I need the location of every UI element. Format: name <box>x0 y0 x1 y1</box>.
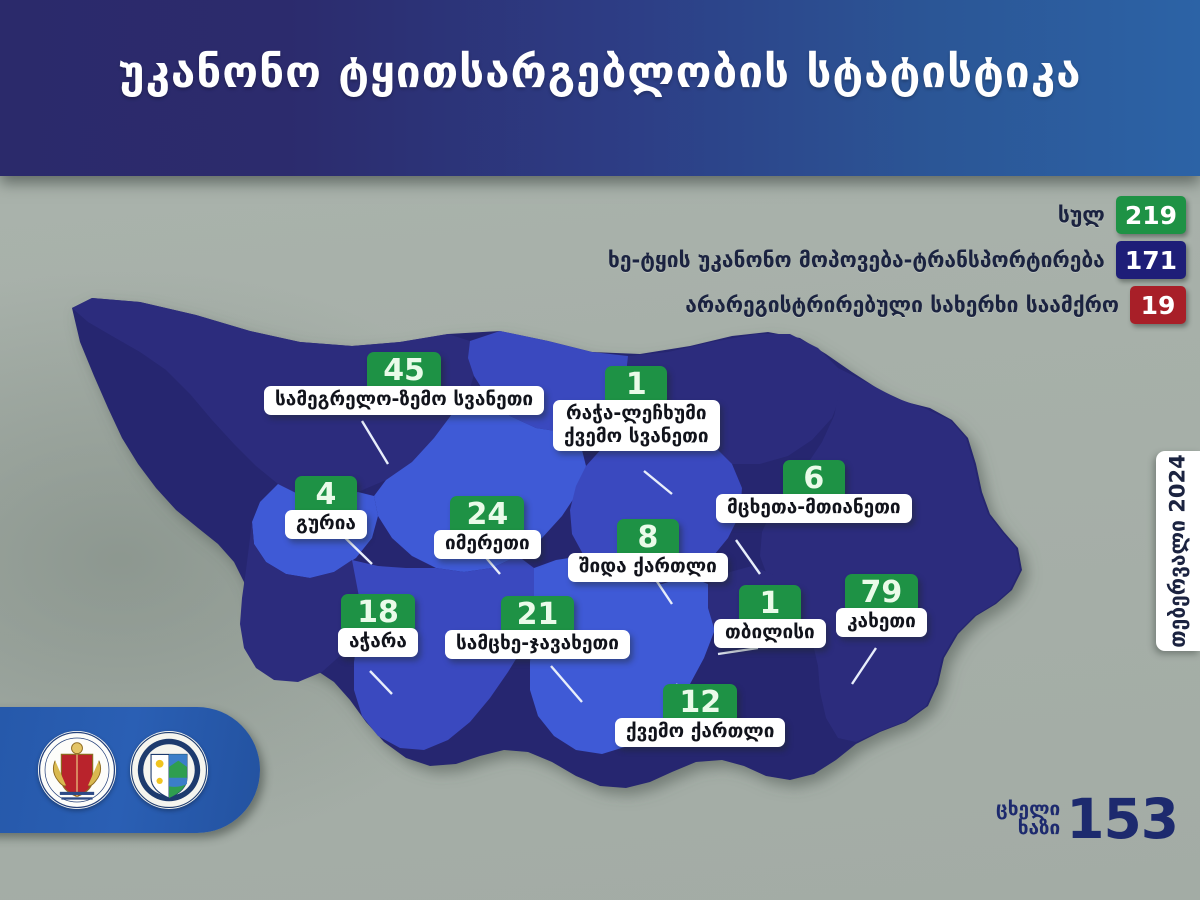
legend-label: ხე-ტყის უკანონო მოპოვება-ტრანსპორტირება <box>608 248 1105 272</box>
marker-label: კახეთი <box>836 608 927 636</box>
marker-label: მცხეთა-მთიანეთი <box>716 494 912 522</box>
date-tab-label: თებერვალი 2024 <box>1166 454 1190 647</box>
map-marker-imereti[interactable]: 24 იმერეთი <box>434 496 541 559</box>
map-marker-guria[interactable]: 4 გურია <box>285 476 367 539</box>
marker-label: გურია <box>285 510 367 538</box>
infographic-stage: უკანონო ტყითსარგებლობის სტატისტიკა სულ 2… <box>0 0 1200 900</box>
date-tab: თებერვალი 2024 <box>1156 451 1200 651</box>
page-title: უკანონო ტყითსარგებლობის სტატისტიკა <box>0 49 1200 97</box>
map-marker-adjara[interactable]: 18 აჭარა <box>338 594 418 657</box>
map-marker-samegrelo-zemo-svaneti[interactable]: 45 სამეგრელო-ზემო სვანეთი <box>264 352 544 415</box>
hotline: ცხელი ხაზი 153 <box>996 795 1178 845</box>
legend-label: სულ <box>1058 203 1105 227</box>
legend: სულ 219 ხე-ტყის უკანონო მოპოვება-ტრანსპო… <box>608 196 1186 324</box>
hotline-label-line2: ხაზი <box>996 819 1060 838</box>
marker-label: სამცხე-ჯავახეთი <box>445 630 630 658</box>
legend-row: არარეგისტრირებული სახერხი საამქრო 19 <box>685 286 1186 324</box>
legend-row: ხე-ტყის უკანონო მოპოვება-ტრანსპორტირება … <box>608 241 1186 279</box>
marker-label: იმერეთი <box>434 530 541 558</box>
environmental-agency-emblem-icon <box>130 731 208 809</box>
marker-label: შიდა ქართლი <box>568 553 728 581</box>
legend-badge-logging: 171 <box>1116 241 1186 279</box>
map-marker-kakheti[interactable]: 79 კახეთი <box>836 574 927 637</box>
hotline-label: ცხელი ხაზი <box>996 800 1060 838</box>
legend-badge-total: 219 <box>1116 196 1186 234</box>
marker-label: სამეგრელო-ზემო სვანეთი <box>264 386 544 414</box>
marker-label: აჭარა <box>338 628 418 656</box>
logo-bar <box>0 707 260 833</box>
legend-label: არარეგისტრირებული სახერხი საამქრო <box>685 293 1119 317</box>
ministry-emblem-icon <box>38 731 116 809</box>
hotline-number: 153 <box>1066 795 1178 845</box>
map-marker-shida-kartli[interactable]: 8 შიდა ქართლი <box>568 519 728 582</box>
legend-row: სულ 219 <box>1058 196 1186 234</box>
map-marker-racha-lechkhumi[interactable]: 1 რაჭა-ლეჩხუმიქვემო სვანეთი <box>553 366 720 451</box>
legend-badge-sawmill: 19 <box>1130 286 1186 324</box>
map-marker-tbilisi[interactable]: 1 თბილისი <box>714 585 826 648</box>
map-marker-samtskhe-javakheti[interactable]: 21 სამცხე-ჯავახეთი <box>445 596 630 659</box>
header-banner: უკანონო ტყითსარგებლობის სტატისტიკა <box>0 0 1200 176</box>
map-marker-mtskheta-mtianeti[interactable]: 6 მცხეთა-მთიანეთი <box>716 460 912 523</box>
map-marker-kvemo-kartli[interactable]: 12 ქვემო ქართლი <box>615 684 785 747</box>
marker-label: რაჭა-ლეჩხუმიქვემო სვანეთი <box>553 400 720 451</box>
marker-label: თბილისი <box>714 619 826 647</box>
marker-label: ქვემო ქართლი <box>615 718 785 746</box>
